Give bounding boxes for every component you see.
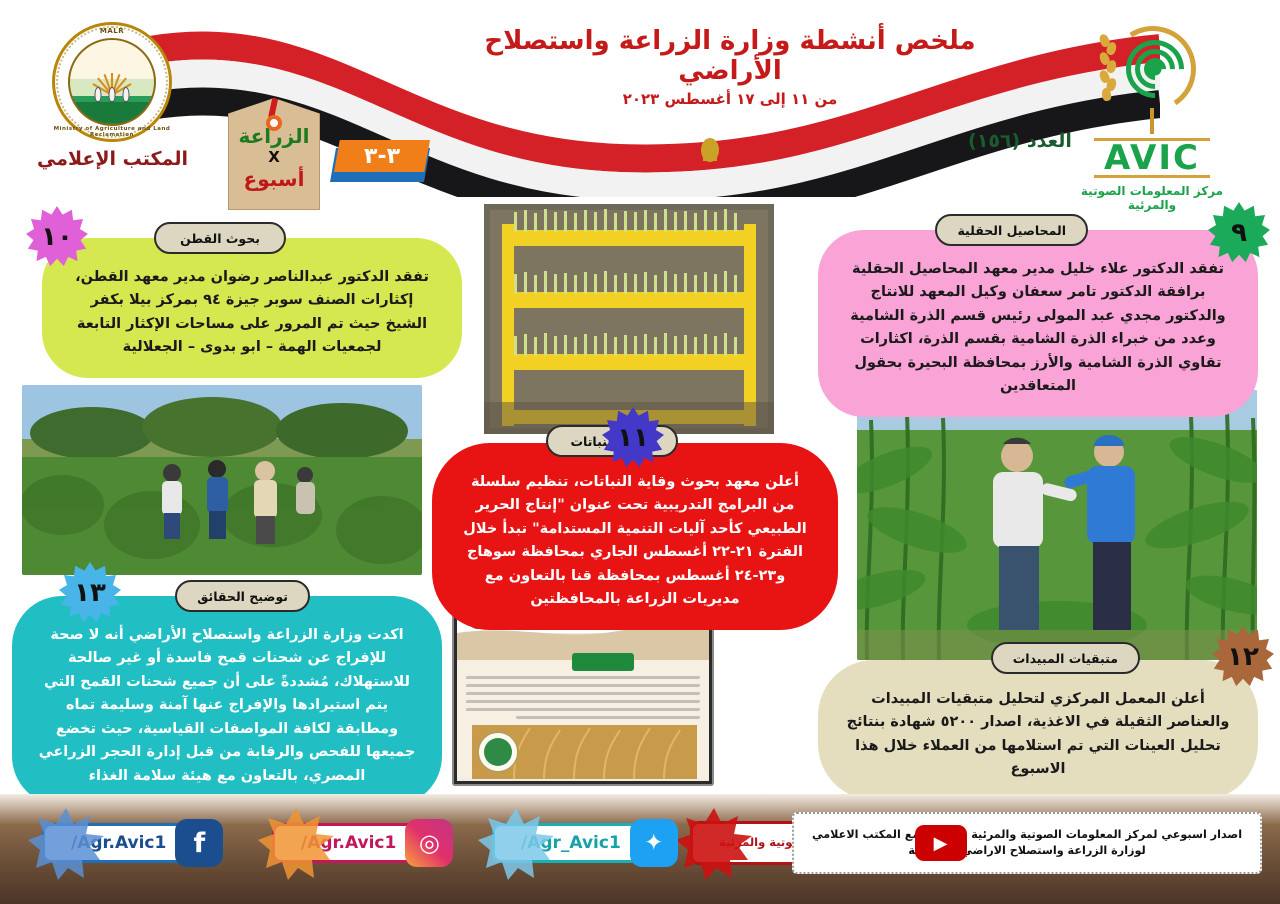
block-body-pesticide-residues: أعلن المعمل المركزي لتحليل متبقيات المبي… xyxy=(844,688,1232,782)
block-body-cotton-research: تفقد الدكتور عبدالناصر رضوان مدير معهد ا… xyxy=(68,266,436,360)
avic-subtitle: مركز المعلومات الصوتية والمرئية xyxy=(1062,184,1242,212)
infographic-page: MALR Ministry of Agriculture and Land Re… xyxy=(0,0,1280,904)
social-instagram[interactable]: ◎ /Agr.Avic1 xyxy=(272,818,453,868)
chip-pesticide-residues: متبقيات المبيدات xyxy=(991,642,1140,674)
photo-maize-field-inspection xyxy=(857,390,1257,660)
seal-top-text: MALR xyxy=(52,27,172,35)
footer-note: اصدار اسبوعي لمركز المعلومات الصوتية وال… xyxy=(792,812,1262,874)
chip-label: المحاصيل الحقلية xyxy=(957,223,1066,238)
header: MALR Ministry of Agriculture and Land Re… xyxy=(0,0,1280,200)
block-pesticide-residues: متبقيات المبيدات ١٢ أعلن المعمل المركزي … xyxy=(818,660,1258,800)
photo-seedling-trays xyxy=(484,204,774,434)
part-number-label: ٣-٣ xyxy=(334,140,430,172)
tag-x: X xyxy=(229,147,319,168)
splash-shape xyxy=(28,806,104,880)
block-body-facts-clarification: اكدت وزارة الزراعة واستصلاح الأراضي أنه … xyxy=(38,624,416,788)
block-cotton-research: بحوث القطن ١٠ تفقد الدكتور عبدالناصر رضو… xyxy=(42,238,462,378)
chip-label: بحوث القطن xyxy=(180,231,260,246)
avic-logo: AVIC مركز المعلومات الصوتية والمرئية xyxy=(1062,20,1242,195)
wheat-icon xyxy=(1098,32,1120,106)
chip-label: توضيح الحقائق xyxy=(197,589,288,604)
facebook-icon[interactable]: f xyxy=(175,819,223,867)
splash-shape xyxy=(478,806,554,880)
block-body-field-crops: تفقد الدكتور علاء خليل مدير معهد المحاصي… xyxy=(844,258,1232,399)
media-office-label: المكتب الإعلامي xyxy=(30,148,195,170)
block-field-crops: المحاصيل الحقلية ٩ تفقد الدكتور علاء خلي… xyxy=(818,230,1258,417)
twitter-icon[interactable]: ✦ xyxy=(630,819,678,867)
part-number-chip: ٣-٣ xyxy=(330,138,430,184)
splash-shape xyxy=(676,806,752,880)
block-plant-protection: وقاية النباتات ١١ أعلن معهد بحوث وقاية ا… xyxy=(432,443,838,630)
broadcast-waves-icon xyxy=(1122,36,1188,102)
tag-hole xyxy=(266,115,282,131)
chip-cotton-research: بحوث القطن xyxy=(154,222,286,254)
splash-shape xyxy=(258,806,334,880)
page-title: ملخص أنشطة وزارة الزراعة واستصلاح الأراض… xyxy=(450,26,1010,86)
week-of-agriculture-tag: الزراعة X أسبوع xyxy=(228,98,320,210)
seal-bottom-text: Ministry of Agriculture and Land Reclama… xyxy=(52,126,172,138)
tag-line-week: أسبوع xyxy=(229,168,319,190)
footer: f /Agr.Avic1 ◎ /Agr.Avic1 ✦ /Agr_Avic1 ▶… xyxy=(0,794,1280,904)
social-twitter[interactable]: ✦ /Agr_Avic1 xyxy=(492,818,678,868)
chip-label: متبقيات المبيدات xyxy=(1013,651,1118,666)
date-range: من ١١ إلى ١٧ أغسطس ٢٠٢٣ xyxy=(600,90,860,108)
avic-wordmark: AVIC xyxy=(1094,138,1210,178)
photo-cotton-field-inspection xyxy=(22,385,422,575)
malr-seal-logo: MALR Ministry of Agriculture and Land Re… xyxy=(52,22,172,142)
instagram-icon[interactable]: ◎ xyxy=(405,819,453,867)
chip-facts-clarification: توضيح الحقائق xyxy=(175,580,310,612)
badge-10: ١٠ xyxy=(26,206,88,268)
social-facebook[interactable]: f /Agr.Avic1 xyxy=(42,818,223,868)
block-facts-clarification: توضيح الحقائق ١٣ اكدت وزارة الزراعة واست… xyxy=(12,596,442,806)
youtube-icon[interactable]: ▶ xyxy=(915,825,967,861)
block-body-plant-protection: أعلن معهد بحوث وقاية النباتات، تنظيم سلس… xyxy=(458,471,812,612)
chip-field-crops: المحاصيل الحقلية xyxy=(935,214,1088,246)
